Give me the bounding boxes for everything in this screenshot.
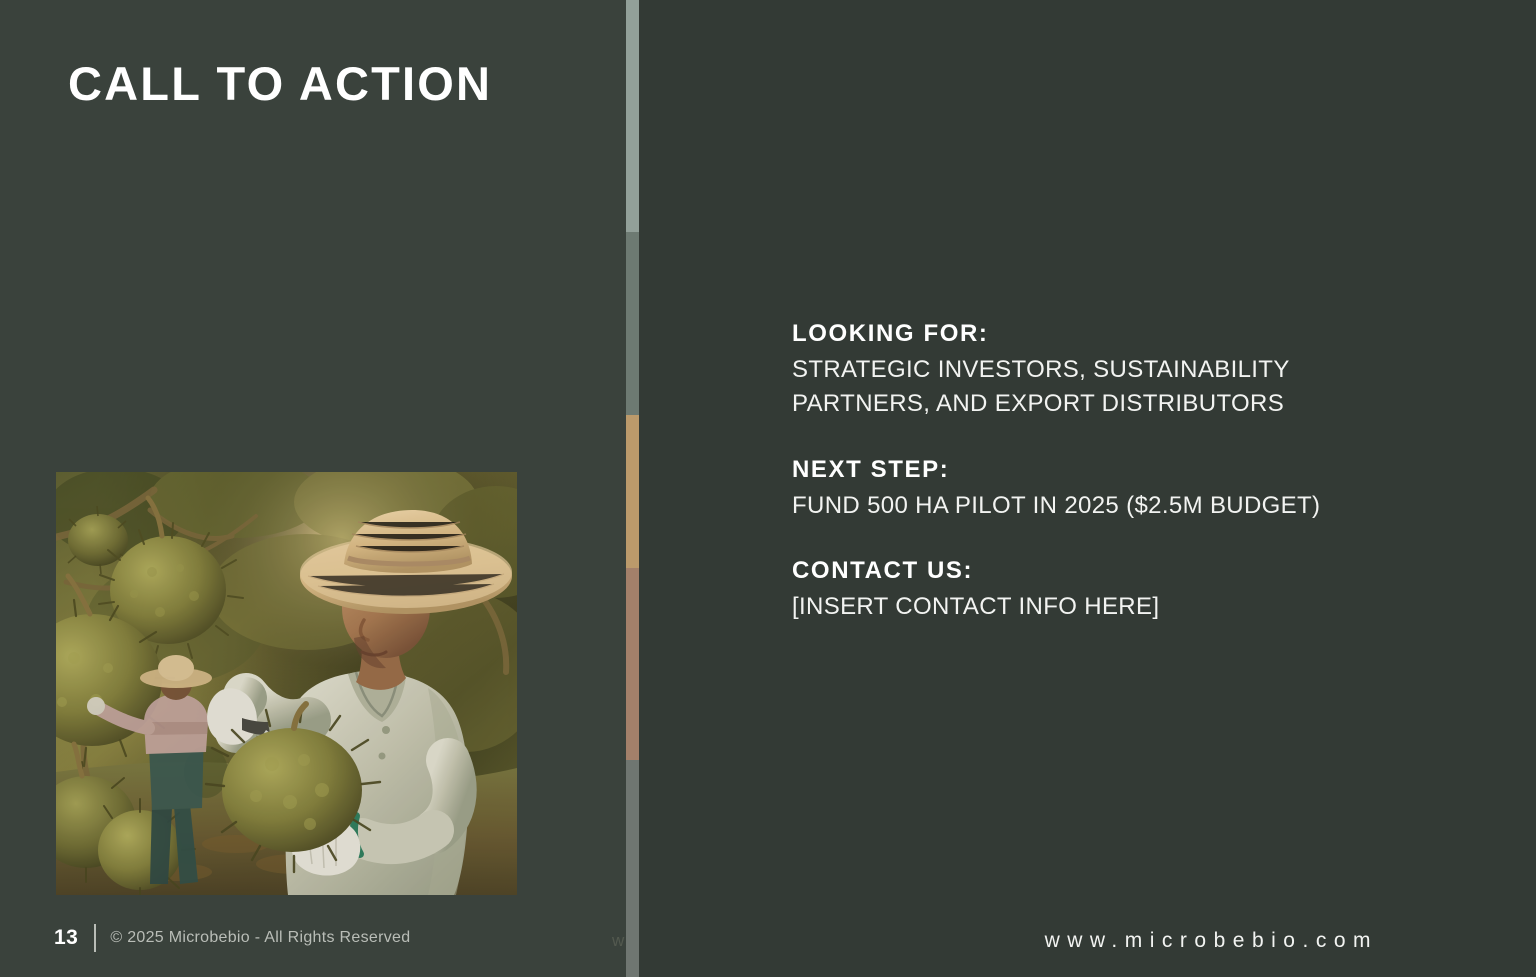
durian-harvest-illustration xyxy=(56,472,517,895)
divider-segment-brown xyxy=(626,568,639,760)
content-group-contact-us: CONTACT US: [INSERT CONTACT INFO HERE] xyxy=(792,555,1412,624)
contact-us-body: [INSERT CONTACT INFO HERE] xyxy=(792,590,1412,624)
next-step-body: FUND 500 HA PILOT IN 2025 ($2.5M BUDGET) xyxy=(792,489,1412,523)
content-group-looking-for: LOOKING FOR: STRATEGIC INVESTORS, SUSTAI… xyxy=(792,318,1412,422)
content-group-next-step: NEXT STEP: FUND 500 HA PILOT IN 2025 ($2… xyxy=(792,454,1412,523)
footer-divider-rule xyxy=(94,924,96,952)
page-number: 13 xyxy=(54,926,78,950)
next-step-heading: NEXT STEP: xyxy=(792,454,1412,486)
call-to-action-content: LOOKING FOR: STRATEGIC INVESTORS, SUSTAI… xyxy=(792,318,1412,624)
footer-left: 13 © 2025 Microbebio - All Rights Reserv… xyxy=(54,923,410,953)
divider-segment-muted-green xyxy=(626,232,639,415)
clipped-website-text: w xyxy=(612,931,631,951)
website-url: www.microbebio.com xyxy=(1045,929,1378,953)
divider-segment-tan xyxy=(626,415,639,568)
copyright-text: © 2025 Microbebio - All Rights Reserved xyxy=(110,929,410,947)
vertical-divider-bar xyxy=(626,0,639,977)
durian-harvest-photo xyxy=(56,472,517,895)
looking-for-body: STRATEGIC INVESTORS, SUSTAINABILITY PART… xyxy=(792,353,1412,421)
looking-for-heading: LOOKING FOR: xyxy=(792,318,1412,350)
slide-call-to-action: CALL TO ACTION xyxy=(0,0,1536,977)
page-title: CALL TO ACTION xyxy=(68,58,492,110)
divider-segment-light-sage xyxy=(626,0,639,232)
contact-us-heading: CONTACT US: xyxy=(792,555,1412,587)
